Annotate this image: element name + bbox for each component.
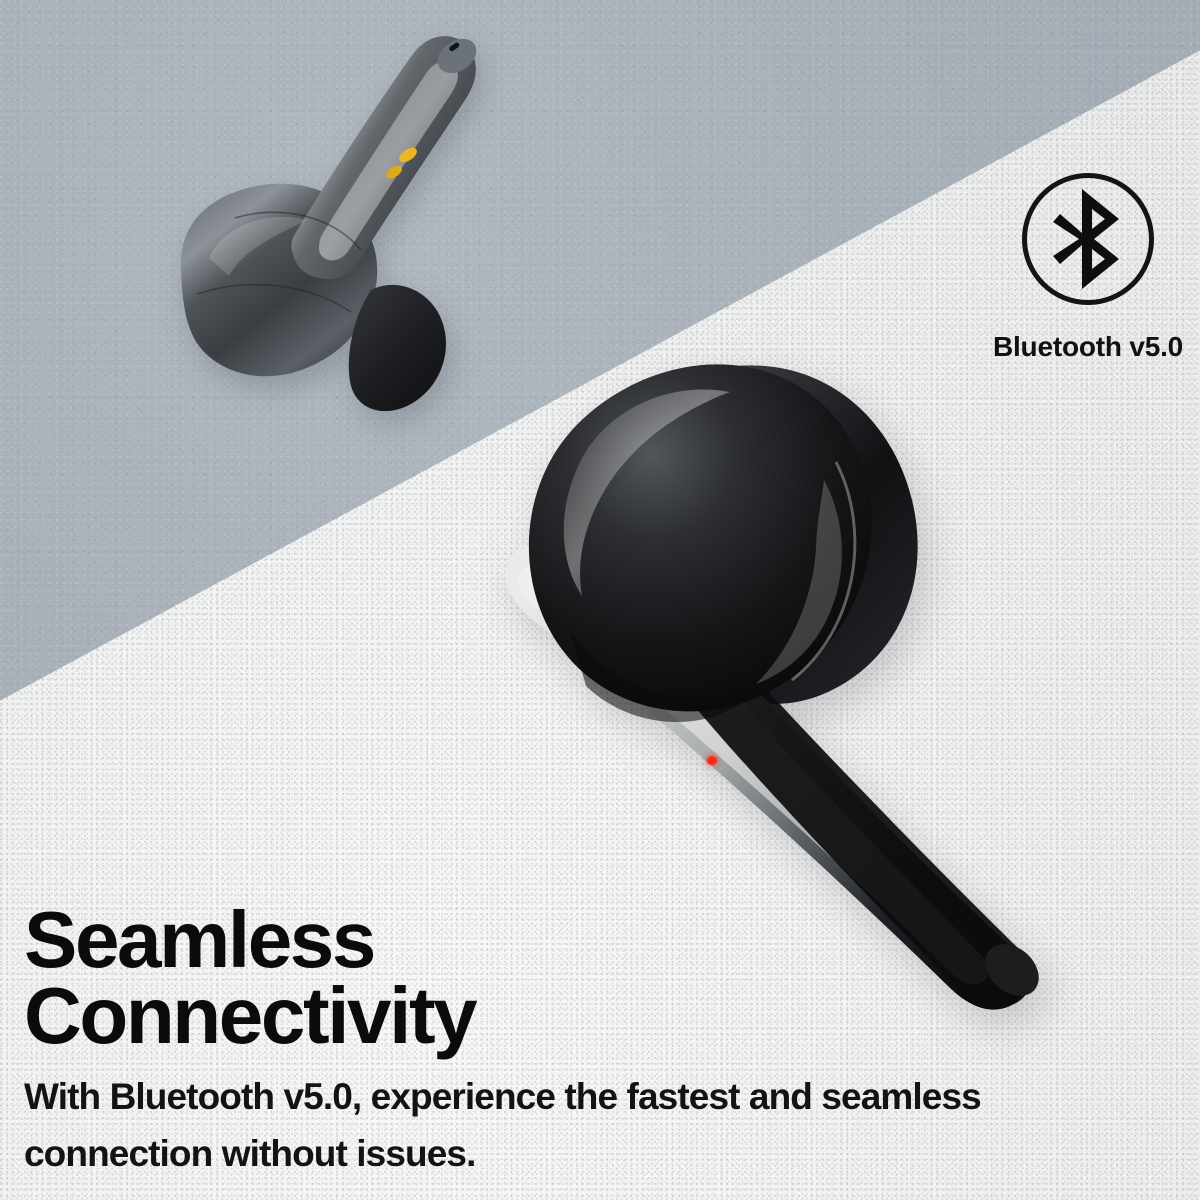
bluetooth-badge: Bluetooth v5.0 [1018, 173, 1158, 363]
subheadline: With Bluetooth v5.0, experience the fast… [24, 1068, 1174, 1183]
bluetooth-icon [1049, 187, 1127, 291]
headline: Seamless Connectivity [24, 902, 1184, 1054]
status-led-indicator [707, 756, 717, 765]
bluetooth-version-label: Bluetooth v5.0 [990, 331, 1186, 363]
product-feature-banner: Bluetooth v5.0 Seamless Connectivity Wit… [0, 0, 1200, 1200]
bluetooth-ring [1022, 173, 1154, 305]
copy-block: Seamless Connectivity With Bluetooth v5.… [24, 902, 1184, 1183]
